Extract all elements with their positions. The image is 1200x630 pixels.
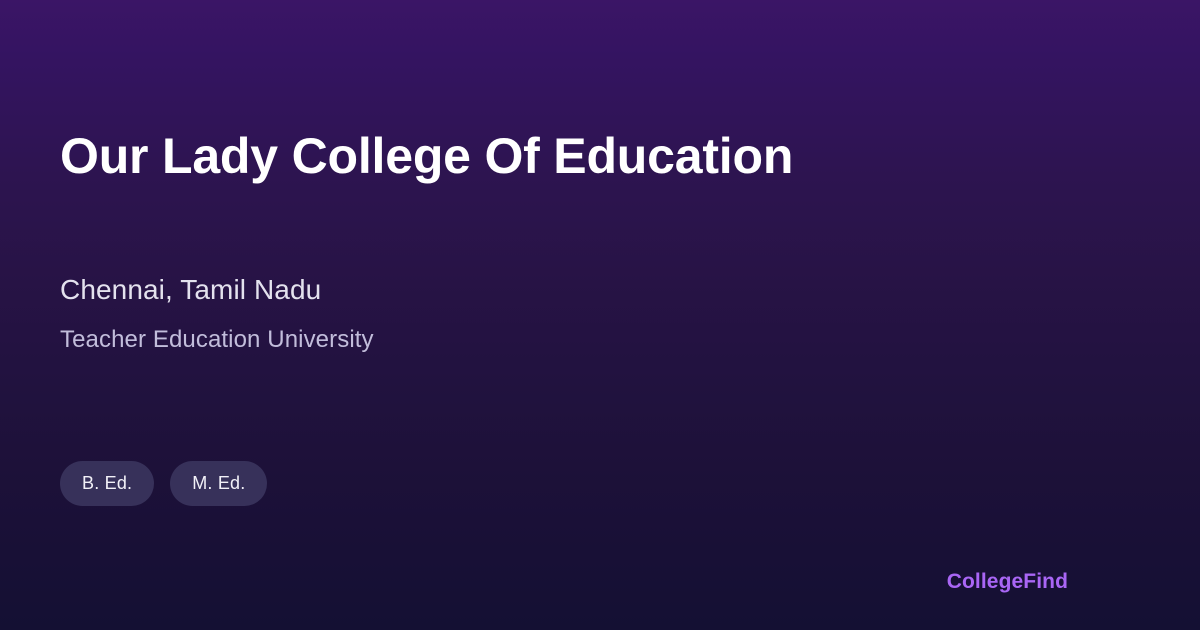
brand-logo-collegefind: CollegeFind xyxy=(947,570,1068,594)
program-badge-row: B. Ed. M. Ed. xyxy=(60,461,267,506)
page-title: Our Lady College Of Education xyxy=(60,128,1140,184)
program-badge-med: M. Ed. xyxy=(170,461,267,506)
title-block: Our Lady College Of Education xyxy=(60,128,1140,184)
program-badge-bed: B. Ed. xyxy=(60,461,154,506)
college-category: Teacher Education University xyxy=(60,324,1140,355)
college-location: Chennai, Tamil Nadu xyxy=(60,272,1140,308)
college-og-card: Our Lady College Of Education Chennai, T… xyxy=(0,0,1200,630)
college-meta-block: Chennai, Tamil Nadu Teacher Education Un… xyxy=(60,272,1140,356)
